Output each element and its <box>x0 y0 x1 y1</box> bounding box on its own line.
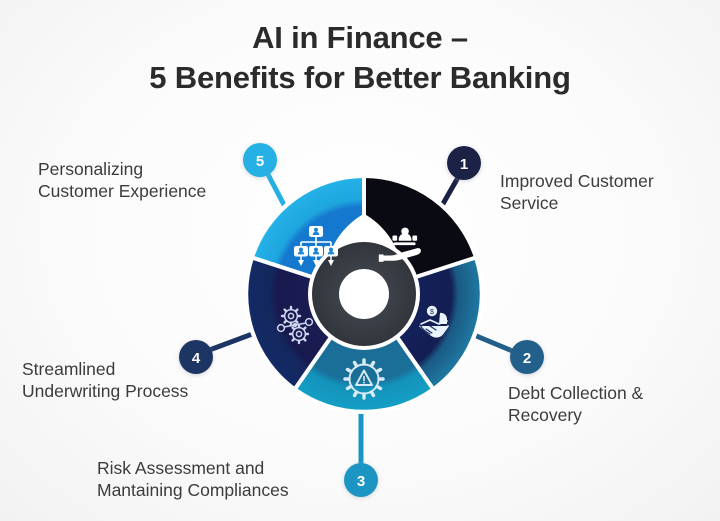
badge-3-number: 3 <box>357 473 365 490</box>
infographic-canvas: AI in Finance – 5 Benefits for Better Ba… <box>0 0 720 521</box>
benefit-label-risk-assessment: Risk Assessment and Mantaining Complianc… <box>97 457 347 501</box>
benefit-label-improved-customer-service: Improved Customer Service <box>500 170 700 214</box>
svg-text:$: $ <box>430 309 434 316</box>
badge-2[interactable]: 2 <box>510 340 544 374</box>
badge-1-number: 1 <box>460 156 468 173</box>
badge-1[interactable]: 1 <box>447 146 481 180</box>
benefit-label-debt-collection-recovery: Debt Collection & Recovery <box>508 382 708 426</box>
badge-2-number: 2 <box>523 350 531 367</box>
benefit-label-streamlined-underwriting: Streamlined Underwriting Process <box>22 358 252 402</box>
benefit-label-personalizing-experience: Personalizing Customer Experience <box>38 158 263 202</box>
badge-3[interactable]: 3 <box>344 463 378 497</box>
donut-wheel-diagram: $ <box>0 0 720 521</box>
hub-center <box>339 269 389 319</box>
